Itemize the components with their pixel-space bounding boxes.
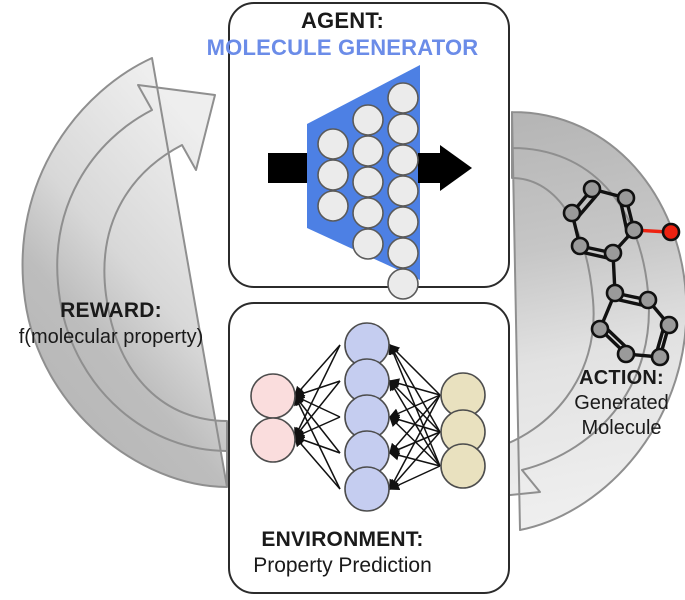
environment-title-line1: ENVIRONMENT: xyxy=(0,527,685,552)
action-label-line1: ACTION: xyxy=(558,366,685,391)
agent-title-line2: MOLECULE GENERATOR xyxy=(0,34,685,61)
agent-title-line1: AGENT: xyxy=(0,8,685,34)
reward-arrow xyxy=(23,58,227,487)
reward-label: REWARD: f(molecular property) xyxy=(0,298,222,350)
molecule-bonds xyxy=(572,189,669,358)
oxygen-atom xyxy=(663,224,679,240)
action-label-line3: Molecule xyxy=(558,416,685,441)
reward-label-line1: REWARD: xyxy=(0,298,222,324)
environment-title-line2: Property Prediction xyxy=(0,552,685,579)
diagram-canvas: AGENT: MOLECULE GENERATOR xyxy=(0,0,685,600)
action-label: ACTION: Generated Molecule xyxy=(558,366,685,441)
reward-label-line2: f(molecular property) xyxy=(0,324,222,350)
agent-title: AGENT: MOLECULE GENERATOR xyxy=(0,8,685,61)
molecule-atoms xyxy=(564,181,679,365)
action-label-line2: Generated xyxy=(558,391,685,416)
environment-title: ENVIRONMENT: Property Prediction xyxy=(0,527,685,579)
